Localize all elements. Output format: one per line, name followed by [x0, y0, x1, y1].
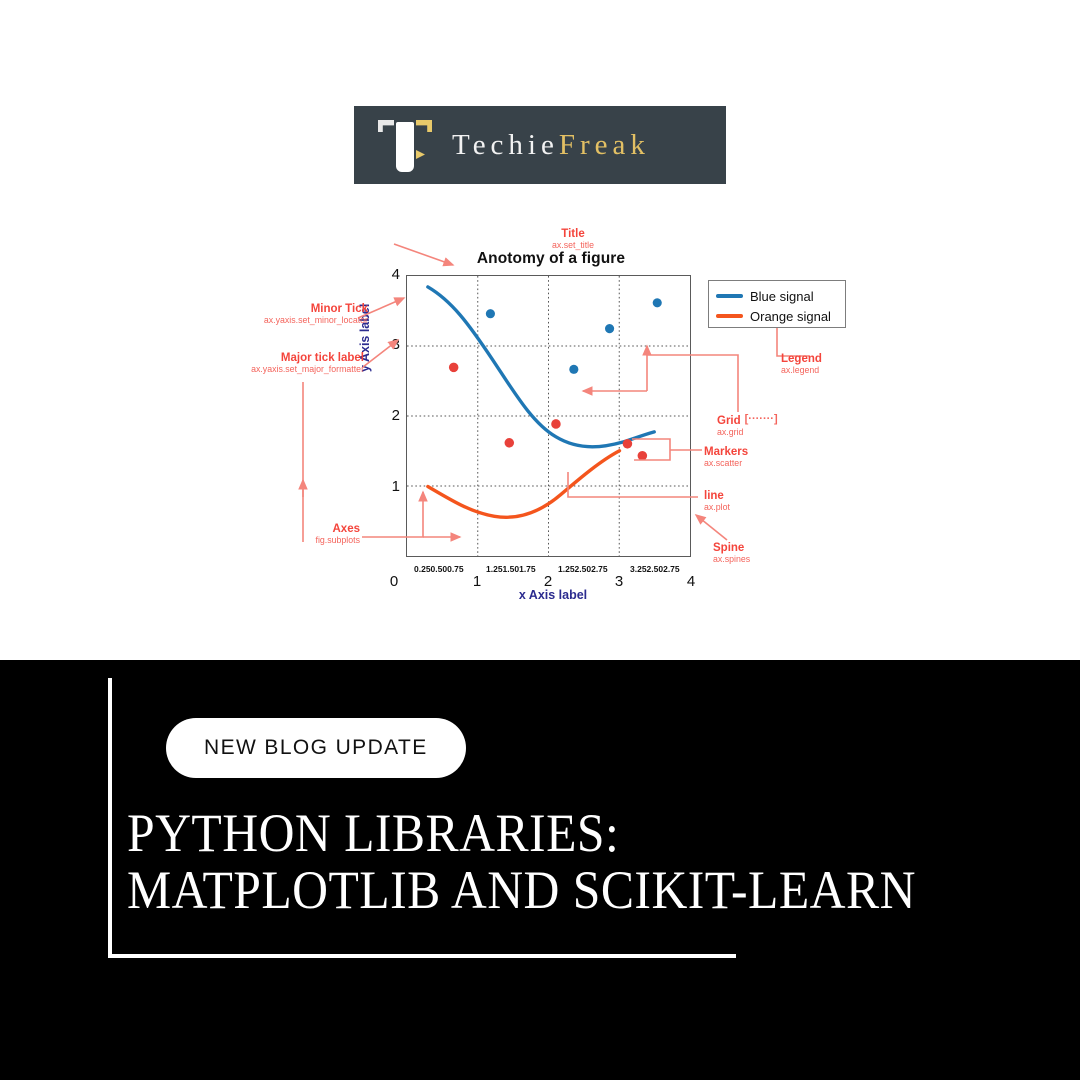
- x-tick-1: 1: [465, 573, 489, 590]
- chart-legend[interactable]: Blue signal Orange signal: [708, 280, 846, 328]
- x-minor-tick-label-2: 1.251.501.75: [486, 564, 536, 574]
- annotation-major-tick-sub: ax.yaxis.set_major_formatter: [224, 364, 364, 374]
- y-tick-4: 4: [374, 267, 400, 282]
- annotation-axes: Axes fig.subplots: [268, 523, 360, 546]
- annotation-minor-tick: Minor Tick ax.yaxis.set_minor_locator: [228, 303, 368, 326]
- series-blue-line: [428, 287, 654, 447]
- y-tick-2: 2: [374, 408, 400, 423]
- annotation-grid: Grid[·······] ax.grid: [717, 414, 778, 438]
- new-blog-update-badge[interactable]: NEW BLOG UPDATE: [166, 718, 466, 778]
- legend-swatch-orange-icon: [716, 314, 743, 318]
- chart-title: Anotomy of a figure: [456, 250, 646, 268]
- brand-name-first: Techie: [452, 129, 559, 161]
- annotation-title-label: Title: [552, 228, 594, 240]
- x-minor-tick-label-1: 0.250.500.75: [414, 564, 464, 574]
- x-minor-tick-label-3: 1.252.502.75: [558, 564, 608, 574]
- annotation-grid-text: Grid: [717, 415, 741, 427]
- promo-horizontal-rule: [108, 954, 736, 958]
- promo-vertical-rule: [108, 678, 112, 958]
- annotation-major-tick-title: Major tick label: [224, 352, 364, 364]
- grid-lines: [407, 276, 690, 556]
- annotation-spine-title: Spine: [713, 542, 750, 554]
- x-tick-0: 0: [382, 573, 406, 590]
- legend-label-blue: Blue signal: [750, 289, 814, 304]
- annotation-line-sub: ax.plot: [704, 502, 730, 512]
- annotation-spine-sub: ax.spines: [713, 554, 750, 564]
- plot-area: [406, 275, 691, 557]
- promo-title-line-2: MATPLOTLIB AND SCIKIT-LEARN: [127, 862, 937, 919]
- annotation-minor-tick-sub: ax.yaxis.set_minor_locator: [228, 315, 368, 325]
- annotation-title: Title ax.set_title: [552, 228, 594, 251]
- promo-title-line-1: PYTHON LIBRARIES:: [127, 805, 937, 862]
- annotation-legend-sub: ax.legend: [781, 365, 822, 375]
- legend-item-orange: Orange signal: [716, 306, 838, 326]
- annotation-major-tick-label: Major tick label ax.yaxis.set_major_form…: [224, 352, 364, 375]
- plot-svg: [407, 276, 690, 556]
- y-axis-ticks: 4 3 2 1: [374, 275, 400, 557]
- promo-title: PYTHON LIBRARIES: MATPLOTLIB AND SCIKIT-…: [127, 805, 1007, 919]
- annotation-grid-title: Grid[·······]: [717, 414, 778, 427]
- legend-swatch-blue-icon: [716, 294, 743, 298]
- new-blog-update-badge-label: NEW BLOG UPDATE: [204, 736, 428, 760]
- legend-label-orange: Orange signal: [750, 309, 831, 324]
- x-minor-tick-label-4: 3.252.502.75: [630, 564, 680, 574]
- annotation-spine: Spine ax.spines: [713, 542, 750, 565]
- techiefreak-monogram-icon: [370, 114, 442, 176]
- annotation-markers: Markers ax.scatter: [704, 446, 748, 469]
- x-tick-4: 4: [679, 573, 703, 590]
- y-tick-1: 1: [374, 479, 400, 494]
- series-blue-markers: [486, 298, 662, 374]
- annotation-markers-title: Markers: [704, 446, 748, 458]
- annotation-legend-title: Legend: [781, 353, 822, 365]
- legend-item-blue: Blue signal: [716, 286, 838, 306]
- x-axis-ticks: 0 1 2 3 4 0.250.500.75 1.251.501.75 1.25…: [406, 557, 691, 597]
- annotation-minor-tick-label: Minor Tick: [228, 303, 368, 315]
- brand-wordmark: TechieFreak: [452, 129, 650, 162]
- x-tick-2: 2: [536, 573, 560, 590]
- brand-name-second: Freak: [559, 129, 650, 161]
- x-tick-3: 3: [607, 573, 631, 590]
- page-root: TechieFreak Anotomy of a figure y Axis l…: [0, 0, 1080, 1080]
- brand-banner: TechieFreak: [354, 106, 726, 184]
- annotation-legend: Legend ax.legend: [781, 353, 822, 376]
- annotation-grid-sub: ax.grid: [717, 427, 778, 437]
- y-tick-3: 3: [374, 337, 400, 352]
- series-orange-line: [428, 451, 620, 518]
- anatomy-figure: Anotomy of a figure y Axis label x Axis …: [228, 222, 858, 612]
- annotation-line: line ax.plot: [704, 490, 730, 513]
- annotation-grid-bracket: [·······]: [745, 414, 778, 426]
- annotation-title-sub: ax.set_title: [552, 240, 594, 250]
- annotation-line-title: line: [704, 490, 730, 502]
- annotation-axes-title: Axes: [268, 523, 360, 535]
- annotation-axes-sub: fig.subplots: [268, 535, 360, 545]
- annotation-markers-sub: ax.scatter: [704, 458, 748, 468]
